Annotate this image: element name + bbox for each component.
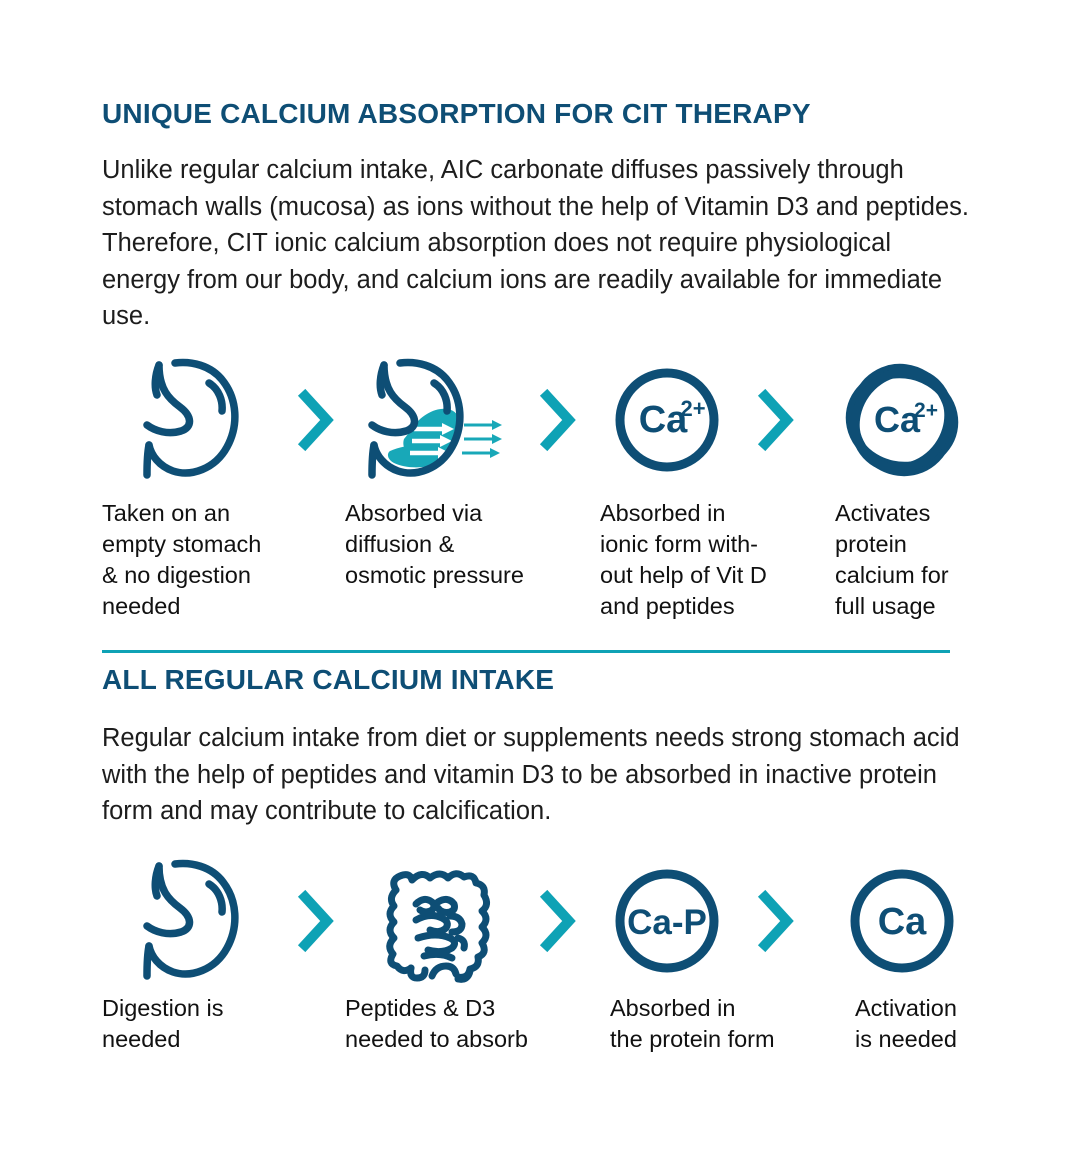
step-2-caption: Absorbed via diffusion & osmotic pressur… bbox=[345, 498, 560, 591]
section-2-heading: ALL REGULAR CALCIUM INTAKE bbox=[102, 666, 554, 694]
intestine-icon bbox=[376, 860, 494, 982]
calcium-ion-charge: 2+ bbox=[680, 396, 705, 421]
chevron-right-icon bbox=[541, 390, 575, 450]
step-1-caption: Taken on an empty stomach & no digestion… bbox=[102, 498, 302, 622]
chevron-right-icon bbox=[759, 390, 793, 450]
chevron-right-icon bbox=[759, 891, 793, 951]
step-5-stomach-outline bbox=[102, 858, 287, 983]
chevron-4 bbox=[292, 858, 340, 983]
section-2-paragraph: Regular calcium intake from diet or supp… bbox=[102, 720, 970, 830]
step-8-calcium: Ca bbox=[827, 858, 977, 983]
chevron-3 bbox=[752, 357, 800, 482]
protein-calcium-rings-icon: Ca 2+ bbox=[839, 357, 965, 483]
chevron-2 bbox=[534, 357, 582, 482]
protein-calcium-charge: 2+ bbox=[914, 399, 938, 422]
step-6-intestine bbox=[342, 858, 527, 983]
chevron-right-icon bbox=[299, 390, 333, 450]
stomach-outline-icon bbox=[135, 359, 255, 481]
section-1-heading: UNIQUE CALCIUM ABSORPTION FOR CIT THERAP… bbox=[102, 100, 811, 128]
calcium-circle-icon: Ca bbox=[846, 865, 958, 977]
chevron-right-icon bbox=[541, 891, 575, 951]
step-3-calcium-ion: Ca 2+ bbox=[592, 357, 742, 482]
calcium-phosphate-label: Ca-P bbox=[627, 903, 707, 942]
section-1-paragraph: Unlike regular calcium intake, AIC carbo… bbox=[102, 152, 970, 335]
stomach-outline-icon bbox=[135, 860, 255, 982]
calcium-phosphate-circle-icon: Ca-P bbox=[611, 865, 723, 977]
calcium-label: Ca bbox=[878, 901, 927, 943]
step-4-protein-calcium: Ca 2+ bbox=[827, 357, 977, 482]
stomach-diffusion-icon bbox=[360, 359, 510, 481]
step-2-stomach-diffusion bbox=[342, 357, 527, 482]
section-2-icon-row: Ca-P Ca bbox=[102, 858, 970, 983]
step-3-caption: Absorbed in ionic form with- out help of… bbox=[600, 498, 815, 622]
chevron-6 bbox=[752, 858, 800, 983]
step-7-calcium-phosphate: Ca-P bbox=[592, 858, 742, 983]
step-1-stomach-outline bbox=[102, 357, 287, 482]
chevron-5 bbox=[534, 858, 582, 983]
section-divider bbox=[102, 650, 950, 653]
step-4-caption: Activates protein calcium for full usage bbox=[835, 498, 995, 622]
chevron-1 bbox=[292, 357, 340, 482]
step-8-caption: Activation is needed bbox=[855, 993, 1015, 1055]
calcium-ion-circle-icon: Ca 2+ bbox=[611, 364, 723, 476]
chevron-right-icon bbox=[299, 891, 333, 951]
step-5-caption: Digestion is needed bbox=[102, 993, 312, 1055]
step-7-caption: Absorbed in the protein form bbox=[610, 993, 825, 1055]
infographic-page: UNIQUE CALCIUM ABSORPTION FOR CIT THERAP… bbox=[102, 0, 970, 1156]
step-6-caption: Peptides & D3 needed to absorb bbox=[345, 993, 575, 1055]
section-1-icon-row: Ca 2+ bbox=[102, 357, 970, 482]
